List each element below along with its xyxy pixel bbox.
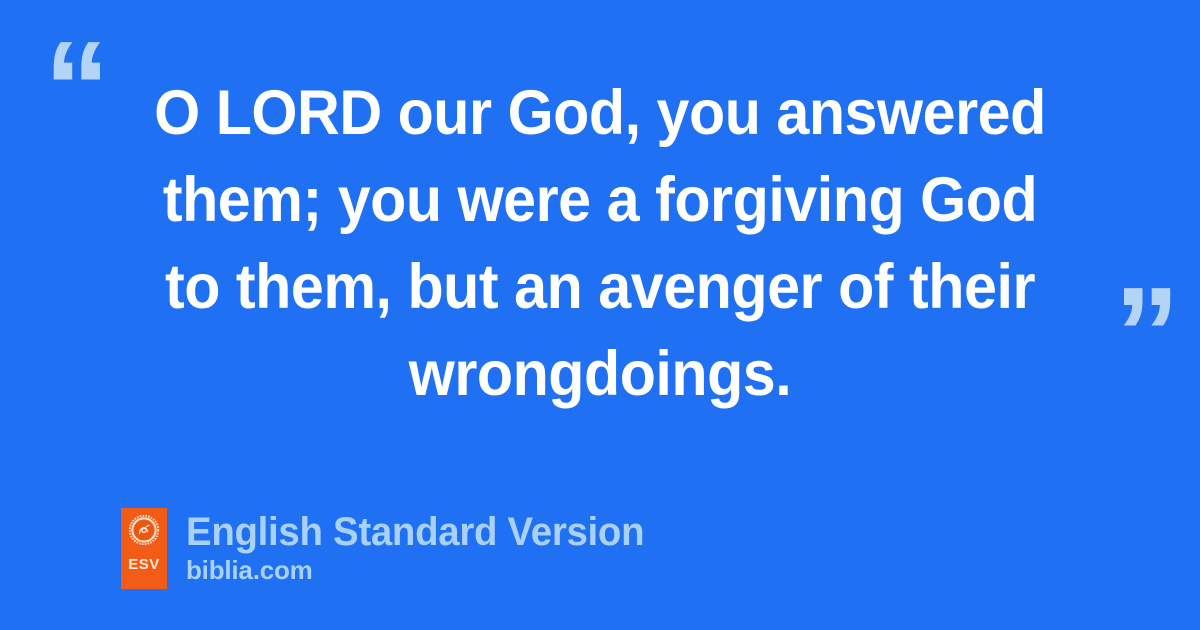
quote-block: “ O LORD our God, you answered them; you… [0,0,1200,470]
verse-image-card: “ O LORD our God, you answered them; you… [0,0,1200,630]
closing-quote-icon: ” [1114,268,1178,400]
esv-badge-label: ESV [128,557,160,572]
attribution-text: English Standard Version biblia.com [186,508,663,584]
esv-badge: ESV [121,508,167,589]
site-name: biblia.com [186,556,663,584]
bible-version-name: English Standard Version [186,510,644,554]
opening-quote-icon: “ [44,22,108,154]
attribution: ESV English Standard Version biblia.com [121,508,663,589]
esv-seal-icon [129,515,159,545]
verse-text: O LORD our God, you answered them; you w… [139,70,1060,418]
